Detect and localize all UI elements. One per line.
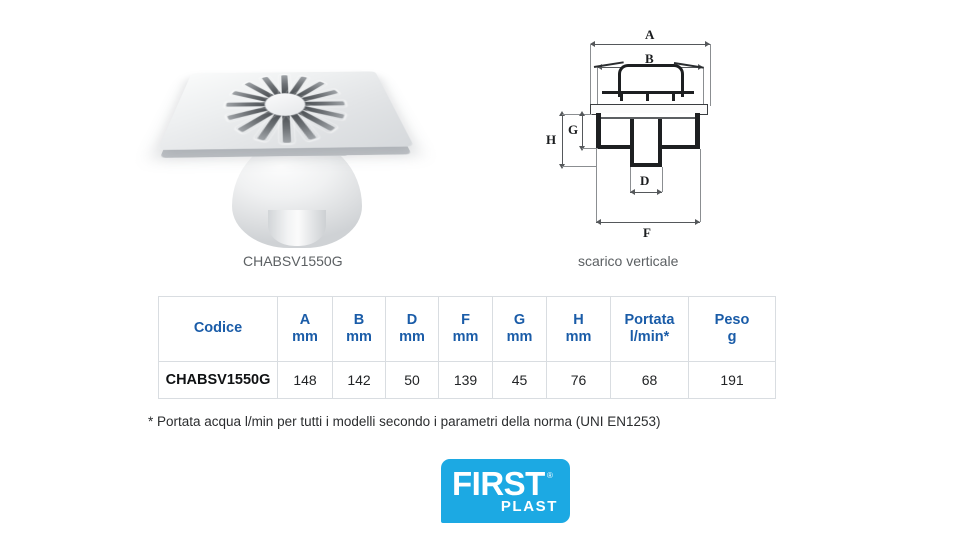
header-unit: mm <box>549 329 608 346</box>
dimension-line-h <box>562 114 563 166</box>
cell-d: 50 <box>386 362 439 399</box>
table-header-cell-codice: Codice <box>159 297 278 362</box>
cap-cross-section <box>592 58 704 98</box>
dimension-line-g <box>582 114 583 148</box>
table-header-cell-d: Dmm <box>386 297 439 362</box>
header-unit: g <box>691 329 773 346</box>
dimension-line-f <box>596 222 700 223</box>
extension-line-f-left <box>596 149 597 222</box>
header-unit: mm <box>335 329 383 346</box>
cell-g: 45 <box>493 362 547 399</box>
grate-plate <box>158 71 414 150</box>
table-header-cell-h: Hmm <box>547 297 611 362</box>
header-label: F <box>461 312 470 328</box>
cell-h: 76 <box>547 362 611 399</box>
product-photo-caption: CHABSV1550G <box>243 253 343 269</box>
dimension-arrow-g-top <box>579 111 585 116</box>
outlet-tube-cross-section <box>630 119 662 167</box>
extension-line-f-right <box>700 149 701 222</box>
extension-line-h-bottom <box>562 166 596 167</box>
extension-line-d-left <box>630 167 631 192</box>
header-unit: mm <box>280 329 330 346</box>
extension-line-d-right <box>662 167 663 192</box>
cell-peso: 191 <box>689 362 776 399</box>
dimension-label-h: H <box>546 133 556 146</box>
footnote-text: * Portata acqua l/min per tutti i modell… <box>148 414 661 429</box>
technical-drawing: A B H G D F <box>540 26 750 244</box>
header-label: D <box>407 312 417 328</box>
cell-a: 148 <box>278 362 333 399</box>
cell-b: 142 <box>333 362 386 399</box>
dimension-label-g: G <box>568 123 578 136</box>
cap-foot-center <box>646 94 649 101</box>
cell-portata: 68 <box>611 362 689 399</box>
header-unit: mm <box>388 329 436 346</box>
header-unit: mm <box>441 329 490 346</box>
dimension-line-a <box>590 44 710 45</box>
product-photo <box>172 28 422 240</box>
table-header-cell-f: Fmm <box>439 297 493 362</box>
dimension-label-f: F <box>643 226 651 239</box>
header-label: Peso <box>715 312 750 328</box>
header-unit: mm <box>495 329 544 346</box>
extension-line-h-top <box>562 114 592 115</box>
header-label: Codice <box>194 320 242 336</box>
header-label: A <box>300 312 310 328</box>
logo-wordmark-first: FIRST <box>452 467 545 500</box>
header-label: Portata <box>625 312 675 328</box>
logo-wordmark-plast: PLAST <box>501 499 558 514</box>
cap-foot-left <box>620 94 623 101</box>
table-header-row: CodiceAmmBmmDmmFmmGmmHmmPortatal/min*Pes… <box>159 297 776 362</box>
cap-foot-right <box>672 94 675 101</box>
specification-table: CodiceAmmBmmDmmFmmGmmHmmPortatal/min*Pes… <box>158 296 776 399</box>
header-unit: l/min* <box>613 329 686 346</box>
drawing-caption: scarico verticale <box>578 253 678 269</box>
table-header-cell-a: Amm <box>278 297 333 362</box>
first-plast-logo: FIRST ® PLAST <box>441 459 570 523</box>
table-header-cell-peso: Pesog <box>689 297 776 362</box>
cell-product-code: CHABSV1550G <box>159 362 278 399</box>
header-label: G <box>514 312 525 328</box>
cell-f: 139 <box>439 362 493 399</box>
extension-line-a-left <box>590 44 591 106</box>
header-label: H <box>573 312 583 328</box>
dimension-label-d: D <box>640 174 649 187</box>
extension-line-a-right <box>710 44 711 106</box>
table-row: CHABSV1550G14814250139457668191 <box>159 362 776 399</box>
dimension-label-a: A <box>645 28 654 41</box>
table-header-cell-b: Bmm <box>333 297 386 362</box>
logo-registered-mark: ® <box>547 471 553 480</box>
table-header-cell-portata: Portatal/min* <box>611 297 689 362</box>
header-label: B <box>354 312 364 328</box>
table-header-cell-g: Gmm <box>493 297 547 362</box>
